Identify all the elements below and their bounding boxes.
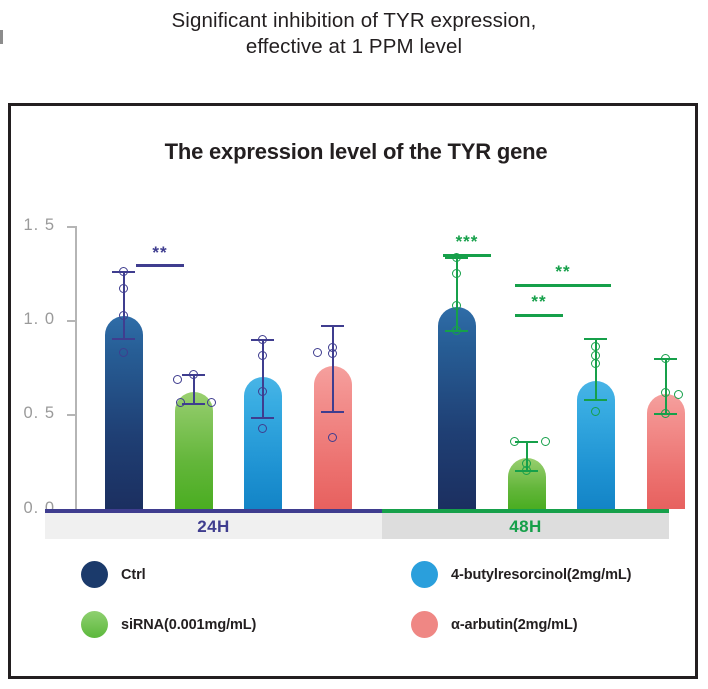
data-point: [119, 284, 128, 293]
legend-label-ctrl: Ctrl: [121, 567, 146, 583]
legend-item-butylresorcinol[interactable]: 4-butylresorcinol(2mg/mL): [411, 561, 631, 588]
data-point: [661, 409, 670, 418]
y-tick-mark-1.5: [67, 226, 76, 228]
slide-heading-line-1: Significant inhibition of TYR expression…: [0, 8, 708, 34]
data-point: [452, 269, 461, 278]
data-point: [591, 407, 600, 416]
data-point: [207, 398, 216, 407]
y-tick-mark-1.0: [67, 320, 76, 322]
legend-swatch-icon-arbutin: [411, 611, 438, 638]
sig-stars-48h-ctrl-sirna: ***: [439, 233, 495, 250]
legend-item-ctrl[interactable]: Ctrl: [81, 561, 146, 588]
errorbar-cap-bottom-48h-butylresorcinol: [584, 399, 607, 401]
legend-swatch-icon-sirna: [81, 611, 108, 638]
data-point: [189, 370, 198, 379]
data-point: [173, 375, 182, 384]
y-tick-label-1.0: 1. 0: [0, 310, 55, 329]
legend-item-sirna[interactable]: siRNA(0.001mg/mL): [81, 611, 256, 638]
sig-stars-48h-sirna-butylresorcinol: **: [515, 293, 563, 310]
group-label-24h: 24H: [45, 515, 382, 539]
data-point: [510, 437, 519, 446]
sig-bracket-line-48h-sirna-butylresorcinol: [515, 314, 563, 317]
left-edge-fragment: [0, 30, 3, 44]
data-point: [258, 424, 267, 433]
data-point: [328, 433, 337, 442]
errorbar-cap-top-24h-arbutin: [321, 325, 344, 327]
bar-24h-sirna[interactable]: [175, 392, 213, 509]
data-point: [119, 348, 128, 357]
legend-swatch-icon-butylresorcinol: [411, 561, 438, 588]
legend-item-arbutin[interactable]: α-arbutin(2mg/mL): [411, 611, 577, 638]
y-tick-label-1.5: 1. 5: [0, 216, 55, 235]
legend-label-butylresorcinol: 4-butylresorcinol(2mg/mL): [451, 567, 631, 583]
sig-bracket-line-48h-sirna-arbutin: [515, 284, 611, 287]
y-axis-line: [75, 226, 77, 512]
errorbar-line-24h-ctrl: [123, 271, 125, 339]
bar-48h-ctrl[interactable]: [438, 307, 476, 509]
errorbar-line-24h-arbutin: [332, 325, 334, 412]
data-point: [452, 326, 461, 335]
baseline-48h: [382, 509, 669, 513]
baseline-24h: [45, 509, 382, 513]
chart-legend: Ctrl siRNA(0.001mg/mL) 4-butylresorcinol…: [81, 561, 681, 661]
data-point: [328, 349, 337, 358]
y-tick-mark-0.5: [67, 414, 76, 416]
group-label-48h: 48H: [382, 515, 669, 539]
slide-heading: Significant inhibition of TYR expression…: [0, 8, 708, 60]
legend-label-sirna: siRNA(0.001mg/mL): [121, 617, 256, 633]
data-point: [541, 437, 550, 446]
errorbar-cap-bottom-24h-butylresorcinol: [251, 417, 274, 419]
errorbar-line-48h-arbutin: [665, 358, 667, 414]
data-point: [258, 335, 267, 344]
data-point: [176, 398, 185, 407]
errorbar-cap-bottom-24h-arbutin: [321, 411, 344, 413]
data-point: [661, 388, 670, 397]
data-point: [258, 351, 267, 360]
data-point: [119, 311, 128, 320]
errorbar-cap-top-48h-butylresorcinol: [584, 338, 607, 340]
data-point: [452, 301, 461, 310]
slide-heading-line-2: effective at 1 PPM level: [0, 34, 708, 60]
chart-panel: The expression level of the TYR gene 1. …: [8, 103, 698, 679]
bar-24h-ctrl[interactable]: [105, 316, 143, 509]
data-point: [522, 466, 531, 475]
data-point: [258, 387, 267, 396]
errorbar-cap-bottom-24h-sirna: [182, 403, 205, 405]
legend-swatch-icon-ctrl: [81, 561, 108, 588]
sig-stars-24h-ctrl-sirna: **: [136, 244, 184, 261]
data-point: [591, 359, 600, 368]
data-point: [674, 390, 683, 399]
y-tick-label-0.5: 0. 5: [0, 404, 55, 423]
sig-stars-48h-sirna-arbutin: **: [539, 263, 587, 280]
legend-label-arbutin: α-arbutin(2mg/mL): [451, 617, 577, 633]
errorbar-cap-bottom-24h-ctrl: [112, 338, 135, 340]
sig-bracket-line-48h-ctrl-sirna: [443, 254, 491, 257]
data-point: [313, 348, 322, 357]
data-point: [591, 342, 600, 351]
sig-bracket-line-24h-ctrl-sirna: [136, 264, 184, 267]
data-point: [119, 267, 128, 276]
data-point: [661, 354, 670, 363]
